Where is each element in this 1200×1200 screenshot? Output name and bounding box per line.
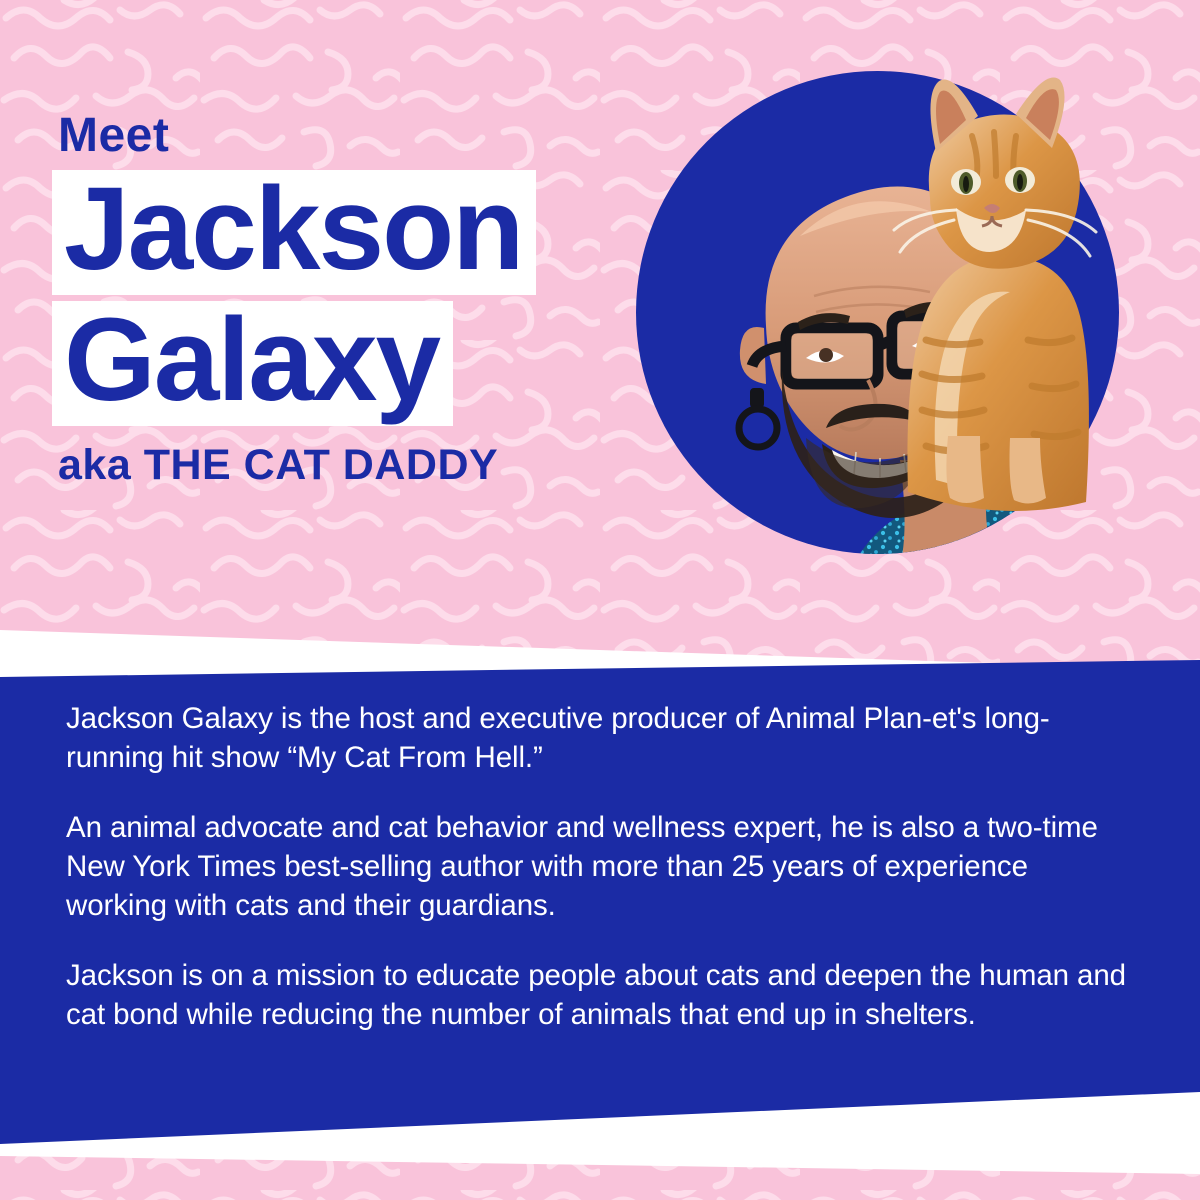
headline-block: Meet Jackson Galaxy aka THE CAT DADDY xyxy=(52,112,622,487)
aka-title: THE CAT DADDY xyxy=(144,441,498,489)
aka-tagline: aka THE CAT DADDY xyxy=(52,444,622,487)
bio-paragraph: An animal advocate and cat behavior and … xyxy=(66,809,1126,926)
aka-prefix: aka xyxy=(58,441,131,489)
portrait-photo-jackson-galaxy xyxy=(600,40,1160,640)
eyebrow-meet: Meet xyxy=(52,112,622,160)
first-name-highlight-box: Jackson xyxy=(52,170,536,295)
promo-card: Meet Jackson Galaxy aka THE CAT DADDY Ja… xyxy=(0,0,1200,1200)
bio-paragraph: Jackson is on a mission to educate peopl… xyxy=(66,957,1126,1035)
bio-copy: Jackson Galaxy is the host and executive… xyxy=(66,700,1126,1035)
bio-paragraph: Jackson Galaxy is the host and executive… xyxy=(66,700,1126,778)
last-name-highlight-box: Galaxy xyxy=(52,301,453,426)
hoop-earring-decoration xyxy=(739,388,777,447)
first-name-text: Jackson xyxy=(64,173,522,285)
last-name-text: Galaxy xyxy=(64,304,439,416)
